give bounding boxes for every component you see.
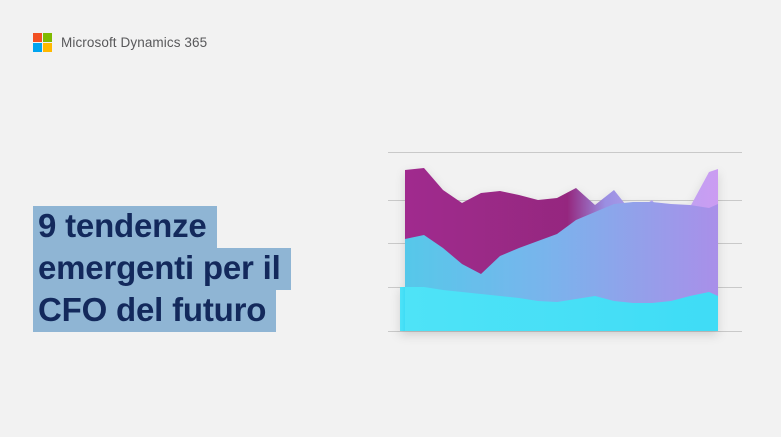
page-title: 9 tendenze emergenti per il CFO del futu… <box>33 206 291 332</box>
chart-canvas <box>386 146 744 346</box>
headline-line-3: CFO del futuro <box>33 290 276 332</box>
chart-plot-areas <box>400 168 718 331</box>
brand-name: Microsoft Dynamics 365 <box>61 35 207 50</box>
microsoft-logo-icon <box>33 33 52 52</box>
area-series-1-left-step <box>400 287 405 331</box>
logo-tile-blue <box>33 43 42 52</box>
logo-tile-green <box>43 33 52 42</box>
headline-line-2: emergenti per il <box>33 248 291 290</box>
stacked-area-chart <box>386 146 744 346</box>
logo-tile-red <box>33 33 42 42</box>
logo-tile-yellow <box>43 43 52 52</box>
brand-lockup: Microsoft Dynamics 365 <box>33 33 207 52</box>
headline-line-1: 9 tendenze <box>33 206 217 248</box>
